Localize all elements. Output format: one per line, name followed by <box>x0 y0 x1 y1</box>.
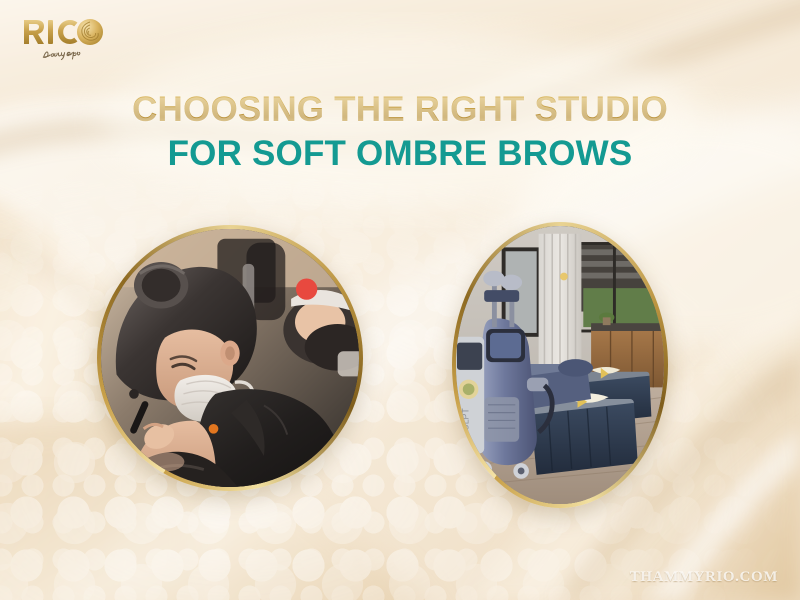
site-watermark: THAMMYRIO.COM <box>630 569 778 586</box>
banner-canvas: CHOOSING THE RIGHT STUDIO FOR SOFT OMBRE… <box>0 0 800 600</box>
title-line-2: FOR SOFT OMBRE BROWS <box>0 136 800 171</box>
title-line-1: CHOOSING THE RIGHT STUDIO <box>0 92 800 127</box>
photo-frame-right: EMSCULPT <box>456 226 664 504</box>
logo-tagline <box>43 52 80 60</box>
rose-icon <box>77 19 103 45</box>
photo-spa-treatment-room[interactable]: EMSCULPT <box>452 222 668 508</box>
page-title: CHOOSING THE RIGHT STUDIO FOR SOFT OMBRE… <box>0 92 800 171</box>
brand-logo[interactable] <box>18 14 128 66</box>
logo-letters <box>24 20 77 44</box>
photo-frame-left <box>101 229 359 487</box>
photo-technician-doing-brows[interactable] <box>97 225 363 491</box>
